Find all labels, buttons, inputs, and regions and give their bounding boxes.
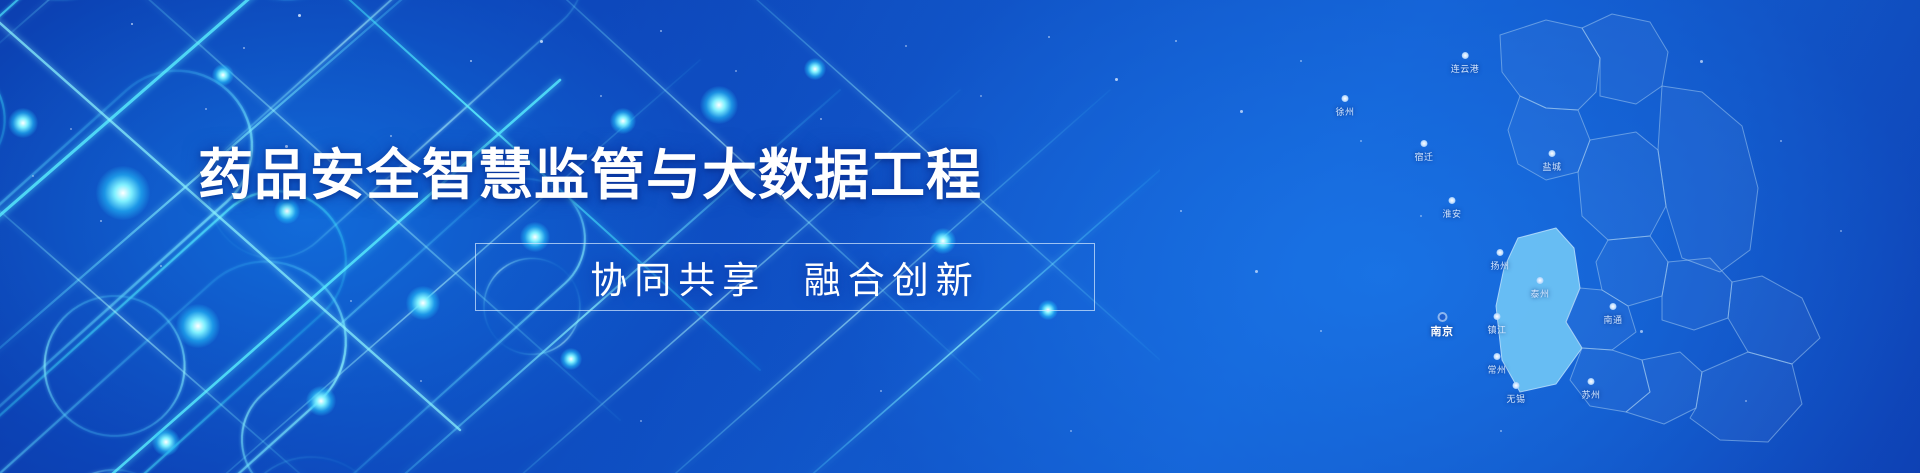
map-city-label-wuxi: 无锡: [1506, 382, 1525, 405]
star-particle: [1240, 110, 1243, 113]
banner-title: 药品安全智慧监管与大数据工程: [0, 145, 1180, 205]
star-particle: [1320, 330, 1322, 332]
city-name: 常州: [1487, 365, 1506, 375]
map-city-dot-icon: [1496, 249, 1503, 256]
city-name: 镇江: [1487, 325, 1506, 335]
map-city-dot-icon: [1587, 378, 1594, 385]
city-name: 宿迁: [1414, 152, 1433, 162]
city-name: 淮安: [1442, 209, 1461, 219]
city-name: 苏州: [1581, 390, 1600, 400]
map-city-dot-icon: [1548, 150, 1555, 157]
map-city-label-xuzhou: 徐州: [1335, 95, 1354, 118]
map-city-label-changzhou: 常州: [1487, 353, 1506, 376]
map-city-dot-icon: [1512, 382, 1519, 389]
map-city-dot-icon: [1448, 197, 1455, 204]
city-name: 南京: [1431, 326, 1454, 338]
map-city-label-yangzhou: 扬州: [1490, 249, 1509, 272]
star-particle: [1300, 60, 1302, 62]
city-name: 泰州: [1530, 289, 1549, 299]
banner-subtitle: 协同共享 融合创新: [475, 243, 1095, 311]
map-city-label-nanjing: 南京: [1431, 314, 1454, 339]
city-name: 连云港: [1451, 64, 1480, 74]
banner-content: 药品安全智慧监管与大数据工程 协同共享 融合创新: [0, 0, 1180, 473]
star-particle: [1255, 270, 1258, 273]
jiangsu-map-svg: [1350, 0, 1910, 473]
city-name: 扬州: [1490, 261, 1509, 271]
map-city-label-taizhou: 泰州: [1530, 277, 1549, 300]
banner: 连云港 徐州 宿迁 盐城 淮安 扬州 泰州 南通: [0, 0, 1920, 473]
city-name: 无锡: [1506, 394, 1525, 404]
city-name: 南通: [1603, 315, 1622, 325]
map-city-dot-icon: [1493, 313, 1500, 320]
map-city-dot-icon: [1461, 52, 1468, 59]
map-city-label-lianyungang: 连云港: [1451, 52, 1480, 75]
map-city-dot-icon: [1493, 353, 1500, 360]
jiangsu-map: [1360, 0, 1920, 473]
star-particle: [1180, 210, 1182, 212]
city-name: 盐城: [1542, 162, 1561, 172]
map-city-dot-icon: [1439, 314, 1445, 320]
map-city-label-nantong: 南通: [1603, 303, 1622, 326]
map-city-label-suzhou: 苏州: [1581, 378, 1600, 401]
city-name: 徐州: [1335, 107, 1354, 117]
map-city-dot-icon: [1420, 140, 1427, 147]
map-city-label-suqian: 宿迁: [1414, 140, 1433, 163]
map-city-label-yancheng: 盐城: [1542, 150, 1561, 173]
map-city-dot-icon: [1341, 95, 1348, 102]
map-city-label-huaian: 淮安: [1442, 197, 1461, 220]
map-city-label-zhenjiang: 镇江: [1487, 313, 1506, 336]
map-city-dot-icon: [1536, 277, 1543, 284]
map-city-dot-icon: [1609, 303, 1616, 310]
